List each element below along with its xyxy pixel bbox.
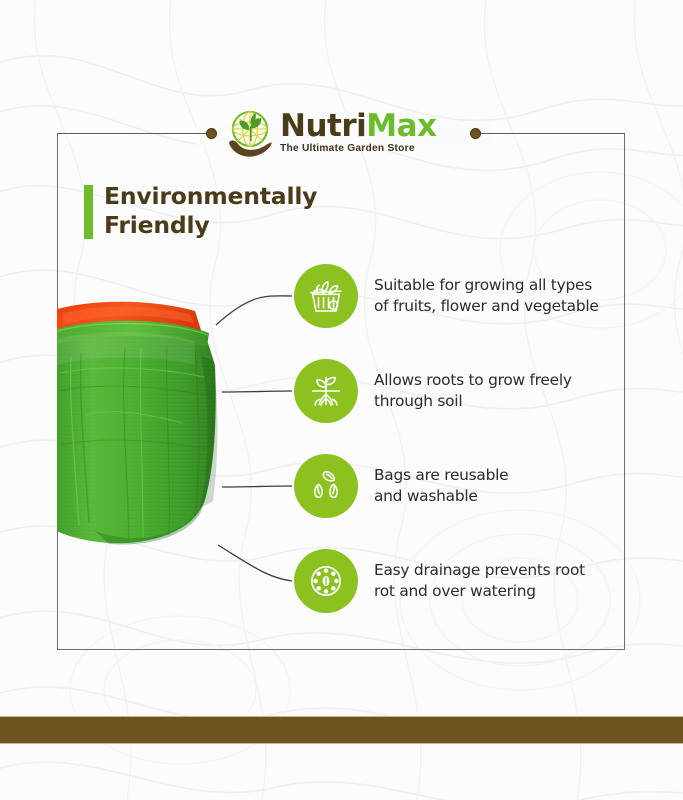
- feature-item: Suitable for growing all types of fruits…: [294, 263, 624, 329]
- feature-text: Allows roots to grow freely through soil: [374, 370, 572, 411]
- feature-text: Suitable for growing all types of fruits…: [374, 275, 599, 316]
- globe-leaf-hand-icon: [224, 107, 276, 159]
- drainage-holes-icon: [294, 549, 358, 613]
- recycle-leaves-icon: [294, 454, 358, 518]
- frame-rule-left: [57, 133, 208, 134]
- feature-line-2: and washable: [374, 486, 508, 507]
- section-heading: Environmentally Friendly: [84, 182, 317, 239]
- feature-line-1: Easy drainage prevents root: [374, 560, 585, 581]
- brand-name: NutriMax: [280, 111, 437, 142]
- frame-rule-right: [478, 133, 625, 134]
- heading-line-1: Environmentally: [104, 182, 317, 211]
- feature-item: Bags are reusable and washable: [294, 453, 624, 519]
- brand-tagline: The Ultimate Garden Store: [280, 144, 437, 154]
- vegetable-basket-icon: [294, 264, 358, 328]
- feature-text: Bags are reusable and washable: [374, 465, 508, 506]
- brand-logo: NutriMax The Ultimate Garden Store: [224, 103, 470, 163]
- frame-dot-left: [206, 128, 217, 139]
- feature-line-2: rot and over watering: [374, 581, 585, 602]
- feature-line-2: of fruits, flower and vegetable: [374, 296, 599, 317]
- feature-text: Easy drainage prevents root rot and over…: [374, 560, 585, 601]
- feature-line-2: through soil: [374, 391, 572, 412]
- plant-roots-icon: [294, 359, 358, 423]
- heading-accent-bar: [84, 185, 93, 239]
- frame-dot-right: [470, 128, 481, 139]
- heading-line-2: Friendly: [104, 211, 317, 240]
- bottom-brand-band: [0, 716, 683, 744]
- feature-item: Easy drainage prevents root rot and over…: [294, 548, 624, 614]
- feature-line-1: Suitable for growing all types: [374, 275, 599, 296]
- feature-item: Allows roots to grow freely through soil: [294, 358, 624, 424]
- infographic-canvas: NutriMax The Ultimate Garden Store Envir…: [0, 0, 683, 800]
- feature-line-1: Allows roots to grow freely: [374, 370, 572, 391]
- grow-bag-photo: [55, 295, 255, 555]
- brand-name-part2: Max: [366, 108, 436, 144]
- feature-line-1: Bags are reusable: [374, 465, 508, 486]
- brand-name-part1: Nutri: [280, 108, 366, 144]
